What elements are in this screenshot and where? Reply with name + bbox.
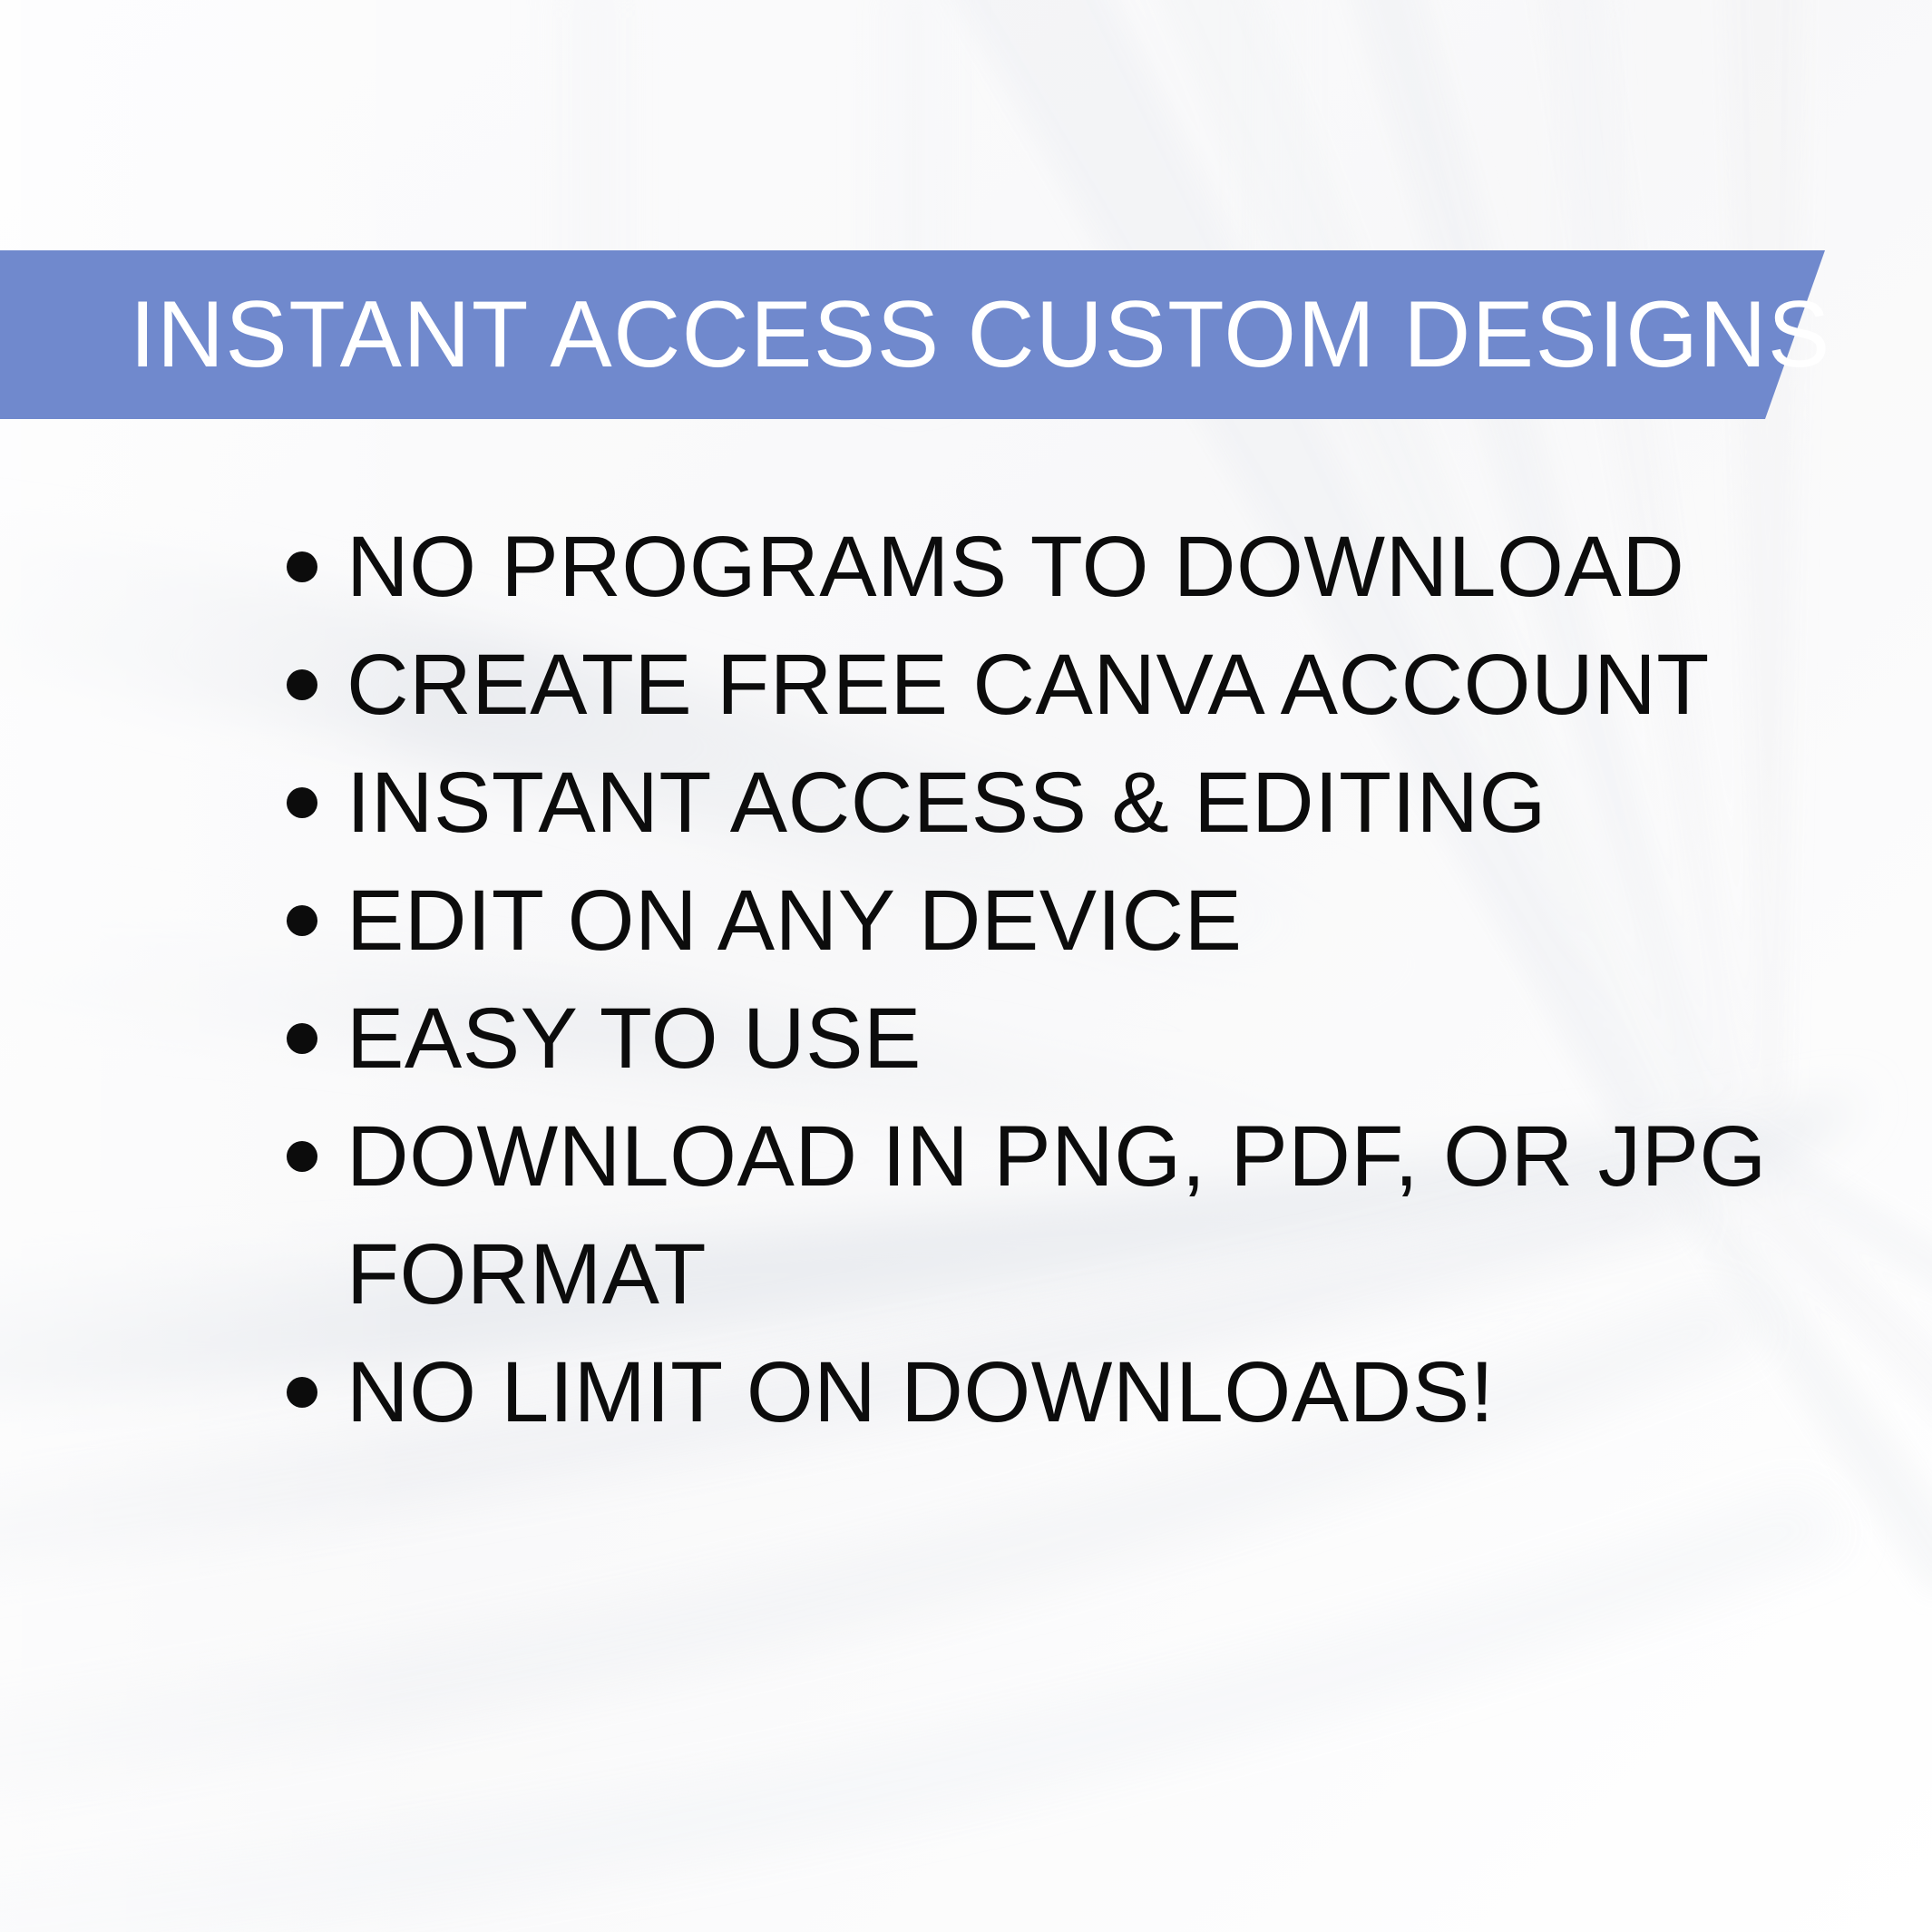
bullet-icon	[287, 1377, 317, 1408]
list-item-label: CREATE FREE CANVA ACCOUNT	[346, 626, 1814, 744]
list-item-label: NO PROGRAMS TO DOWNLOAD	[346, 508, 1814, 626]
bullet-icon	[287, 1141, 317, 1172]
list-item: NO PROGRAMS TO DOWNLOAD	[272, 508, 1814, 626]
list-item-label: EASY TO USE	[346, 980, 1814, 1098]
bullet-icon	[287, 905, 317, 936]
bullet-icon	[287, 1023, 317, 1054]
bullet-icon	[287, 787, 317, 818]
banner: INSTANT ACCESS CUSTOM DESIGNS	[0, 250, 1832, 419]
bullet-icon	[287, 551, 317, 582]
list-item-label: EDIT ON ANY DEVICE	[346, 862, 1814, 980]
list-item: DOWNLOAD IN PNG, PDF, OR JPG FORMAT	[272, 1098, 1814, 1333]
list-item: INSTANT ACCESS & EDITING	[272, 744, 1814, 862]
banner-title: INSTANT ACCESS CUSTOM DESIGNS	[130, 250, 1831, 419]
list-item: EDIT ON ANY DEVICE	[272, 862, 1814, 980]
list-item: CREATE FREE CANVA ACCOUNT	[272, 626, 1814, 744]
list-item-label: INSTANT ACCESS & EDITING	[346, 744, 1814, 862]
list-item: EASY TO USE	[272, 980, 1814, 1098]
list-item-label: NO LIMIT ON DOWNLOADS!	[346, 1333, 1814, 1451]
list-item-label: DOWNLOAD IN PNG, PDF, OR JPG FORMAT	[346, 1098, 1814, 1333]
feature-list: NO PROGRAMS TO DOWNLOAD CREATE FREE CANV…	[272, 508, 1814, 1451]
bullet-icon	[287, 669, 317, 700]
promo-graphic: INSTANT ACCESS CUSTOM DESIGNS NO PROGRAM…	[0, 0, 1932, 1932]
list-item: NO LIMIT ON DOWNLOADS!	[272, 1333, 1814, 1451]
